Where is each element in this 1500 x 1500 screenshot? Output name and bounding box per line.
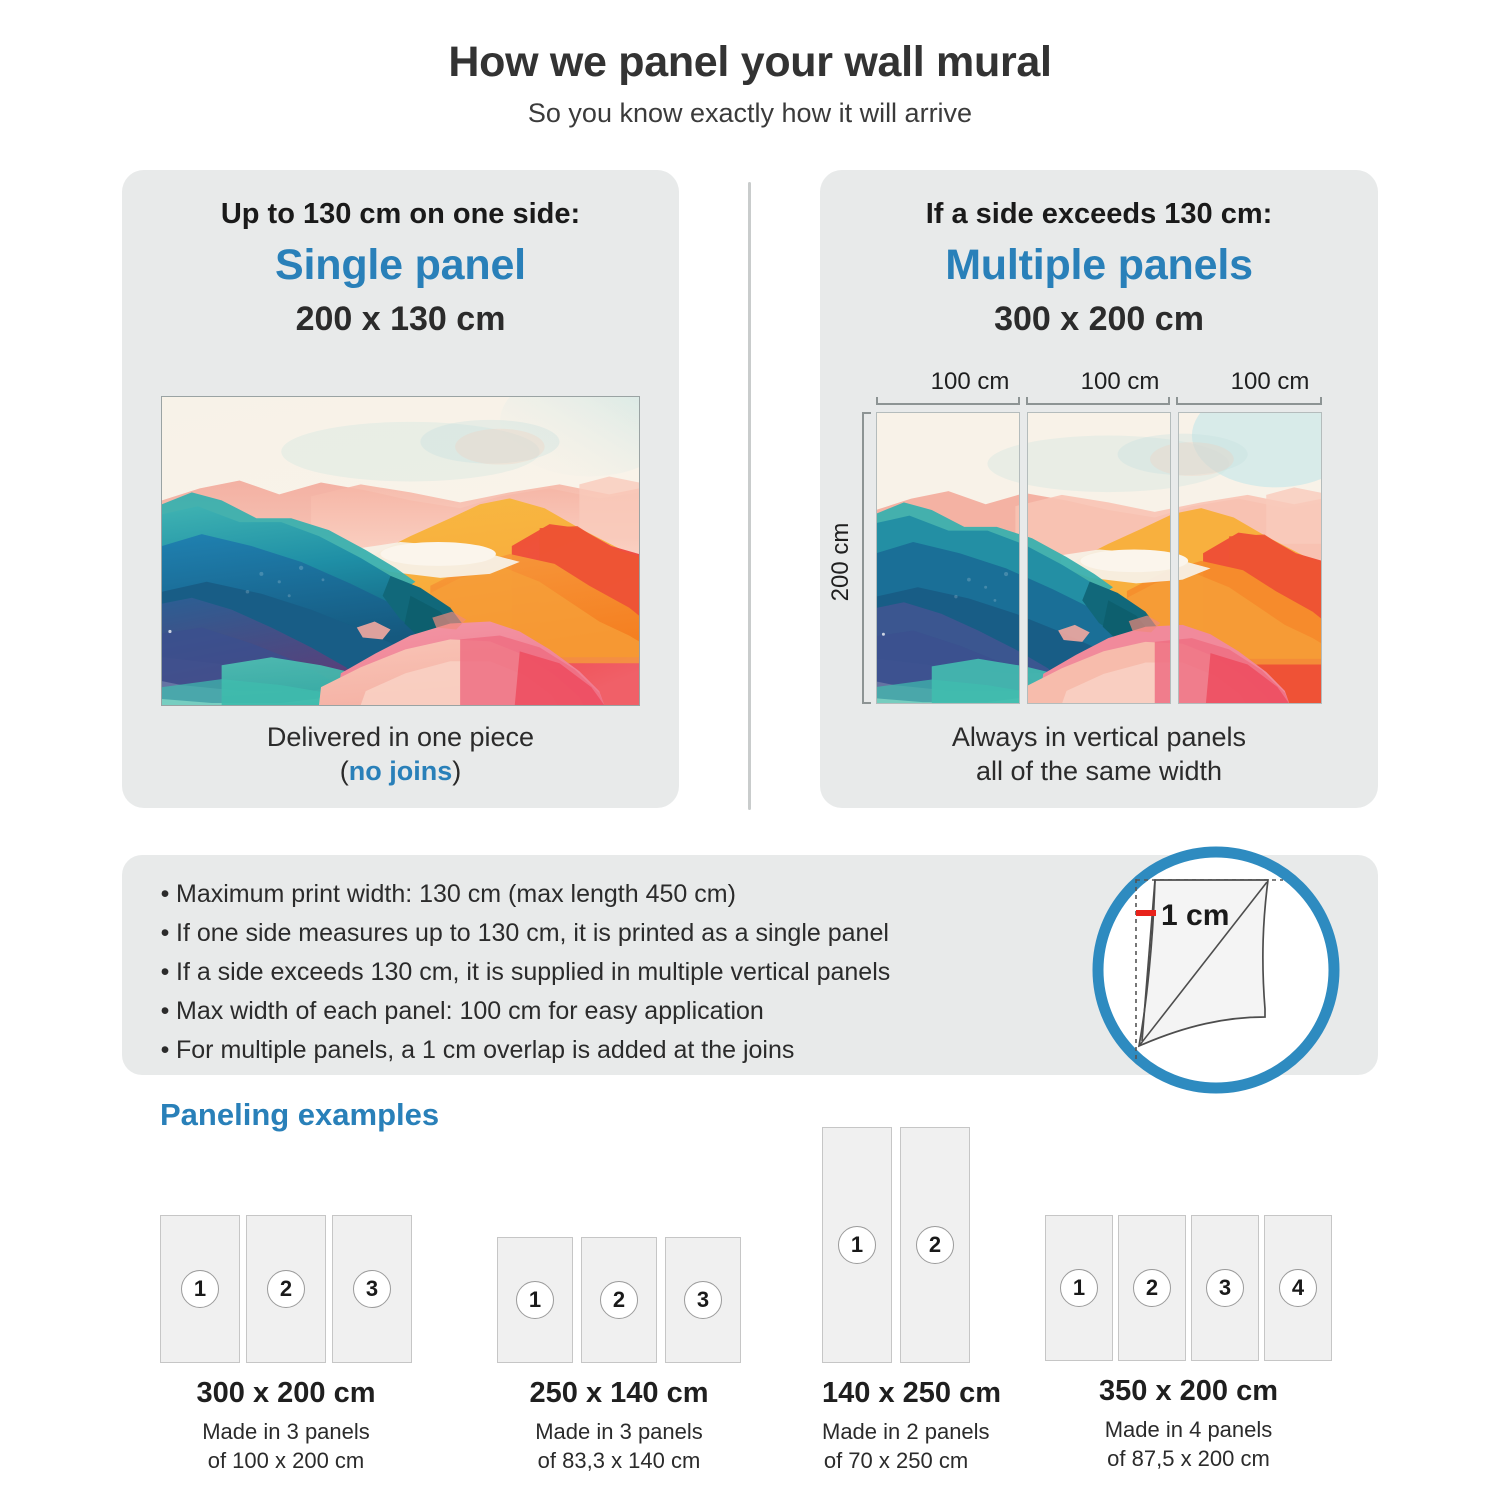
panel-1[interactable]: 1 [160,1215,240,1363]
specs-list: • Maximum print width: 130 cm (max lengt… [154,877,890,1072]
single-panel-caption: Delivered in one piece (no joins) [122,720,679,788]
panel-number-badge: 3 [1206,1269,1244,1307]
multi-panel-caption: Always in vertical panels all of the sam… [820,720,1378,788]
card-divider [748,182,751,810]
example-panels: 1 2 3 [160,1215,420,1363]
page-subtitle: So you know exactly how it will arrive [0,98,1500,129]
panel-number-badge: 4 [1279,1269,1317,1307]
dim-tick-1a [876,397,878,405]
page-header: How we panel your wall mural So you know… [0,38,1500,129]
specs-text: For multiple panels, a 1 cm overlap is a… [176,1033,794,1067]
panel-number-badge: 1 [181,1270,219,1308]
panel-width-label-1: 100 cm [900,368,1040,396]
panel-2[interactable]: 2 [1118,1215,1186,1361]
example-250x140: 1 2 3 250 x 140 cm Made in 3 panels of 8… [497,1237,749,1475]
single-panel-eyebrow: Up to 130 cm on one side: [122,198,679,231]
panel-number-badge: 2 [1133,1269,1171,1307]
mural-panel-2 [1027,412,1171,704]
bullet-dot-icon: • [154,1033,176,1067]
mural-panel-3 [1178,412,1322,704]
panel-2[interactable]: 2 [246,1215,326,1363]
panel-width-label-2: 100 cm [1050,368,1190,396]
paren-close: ) [452,756,461,786]
example-350x200: 1 2 3 4 350 x 200 cm Made in 4 panels of… [1045,1215,1335,1473]
no-joins-highlight: no joins [349,756,453,786]
example-300x200: 1 2 3 300 x 200 cm Made in 3 panels of 1… [160,1215,420,1475]
panel-3[interactable]: 3 [1191,1215,1259,1361]
example-desc-line2: of 87,5 x 200 cm [1045,1445,1332,1474]
multi-panel-caption-line2: all of the same width [820,754,1378,788]
bullet-dot-icon: • [154,994,176,1028]
dim-bracket-2 [1026,403,1170,405]
multiple-panels-card: If a side exceeds 130 cm: Multiple panel… [820,170,1378,808]
multi-panel-eyebrow: If a side exceeds 130 cm: [820,198,1378,231]
mural-panel-3-svg [1178,412,1322,704]
panel-2[interactable]: 2 [581,1237,657,1363]
example-desc-line2: of 83,3 x 140 cm [497,1447,741,1476]
list-item: • For multiple panels, a 1 cm overlap is… [154,1033,890,1067]
panel-height-label: 200 cm [827,507,855,617]
panel-number-badge: 2 [916,1226,954,1264]
dim-tick-2b [1168,397,1170,405]
example-desc-line1: Made in 3 panels [497,1418,741,1447]
single-panel-caption-line2: (no joins) [122,754,679,788]
overlap-diagram: 1 cm [1087,841,1345,1099]
example-panels: 1 2 3 4 [1045,1215,1335,1361]
dim-tick-3a [1176,397,1178,405]
panel-2[interactable]: 2 [900,1127,970,1363]
panel-number-badge: 2 [267,1270,305,1308]
example-desc-line1: Made in 4 panels [1045,1416,1332,1445]
mural-panel-2-svg [1027,412,1171,704]
example-140x250: 1 2 140 x 250 cm Made in 2 panels of 70 … [822,1127,1022,1475]
dim-bracket-3 [1176,403,1322,405]
specs-text: If a side exceeds 130 cm, it is supplied… [176,955,890,989]
example-panels: 1 2 [822,1127,1022,1363]
multi-panel-headline: Multiple panels [820,241,1378,290]
overlap-diagram-svg: 1 cm [1087,841,1345,1099]
list-item: • If a side exceeds 130 cm, it is suppli… [154,955,890,989]
example-desc-line1: Made in 3 panels [160,1418,412,1447]
mural-artwork-multi [876,412,1322,704]
single-panel-headline: Single panel [122,241,679,290]
panel-4[interactable]: 4 [1264,1215,1332,1361]
single-panel-card: Up to 130 cm on one side: Single panel 2… [122,170,679,808]
example-size-label: 300 x 200 cm [160,1377,412,1410]
dim-tick-2a [1026,397,1028,405]
example-desc-line2: of 70 x 250 cm [822,1447,970,1476]
example-panels: 1 2 3 [497,1237,749,1363]
panel-1[interactable]: 1 [1045,1215,1113,1361]
panel-number-badge: 1 [516,1281,554,1319]
specs-text: Max width of each panel: 100 cm for easy… [176,994,764,1028]
bullet-dot-icon: • [154,916,176,950]
paren-open: ( [340,756,349,786]
overlap-label: 1 cm [1161,899,1229,932]
dim-bracket-1 [876,403,1020,405]
list-item: • Max width of each panel: 100 cm for ea… [154,994,890,1028]
mural-artwork-single [161,396,640,706]
infographic-page: How we panel your wall mural So you know… [0,0,1500,1500]
examples-section-title: Paneling examples [160,1097,439,1133]
dim-tick-1b [1018,397,1020,405]
specs-text: Maximum print width: 130 cm (max length … [176,877,736,911]
bullet-dot-icon: • [154,877,176,911]
list-item: • If one side measures up to 130 cm, it … [154,916,890,950]
panel-1[interactable]: 1 [497,1237,573,1363]
dim-tick-h-bottom [862,702,871,704]
multi-panel-size: 300 x 200 cm [820,300,1378,339]
example-size-label: 140 x 250 cm [822,1377,970,1410]
single-panel-size: 200 x 130 cm [122,300,679,339]
panel-number-badge: 2 [600,1281,638,1319]
single-panel-caption-line1: Delivered in one piece [122,720,679,754]
panel-width-label-3: 100 cm [1200,368,1340,396]
example-desc-line2: of 100 x 200 cm [160,1447,412,1476]
panel-number-badge: 1 [1060,1269,1098,1307]
panel-3[interactable]: 3 [332,1215,412,1363]
example-size-label: 250 x 140 cm [497,1377,741,1410]
panel-1[interactable]: 1 [822,1127,892,1363]
example-size-label: 350 x 200 cm [1045,1375,1332,1408]
mural-svg [162,397,639,705]
mural-panel-1 [876,412,1020,704]
dim-bracket-height [862,412,864,704]
dim-tick-h-top [862,412,871,414]
page-title: How we panel your wall mural [0,38,1500,86]
multi-panel-caption-line1: Always in vertical panels [820,720,1378,754]
example-desc-line1: Made in 2 panels [822,1418,970,1447]
mural-panel-1-svg [876,412,1020,704]
panel-number-badge: 1 [838,1226,876,1264]
bullet-dot-icon: • [154,955,176,989]
specs-text: If one side measures up to 130 cm, it is… [176,916,889,950]
panel-number-badge: 3 [684,1281,722,1319]
panel-number-badge: 3 [353,1270,391,1308]
dim-tick-3b [1320,397,1322,405]
list-item: • Maximum print width: 130 cm (max lengt… [154,877,890,911]
panel-3[interactable]: 3 [665,1237,741,1363]
